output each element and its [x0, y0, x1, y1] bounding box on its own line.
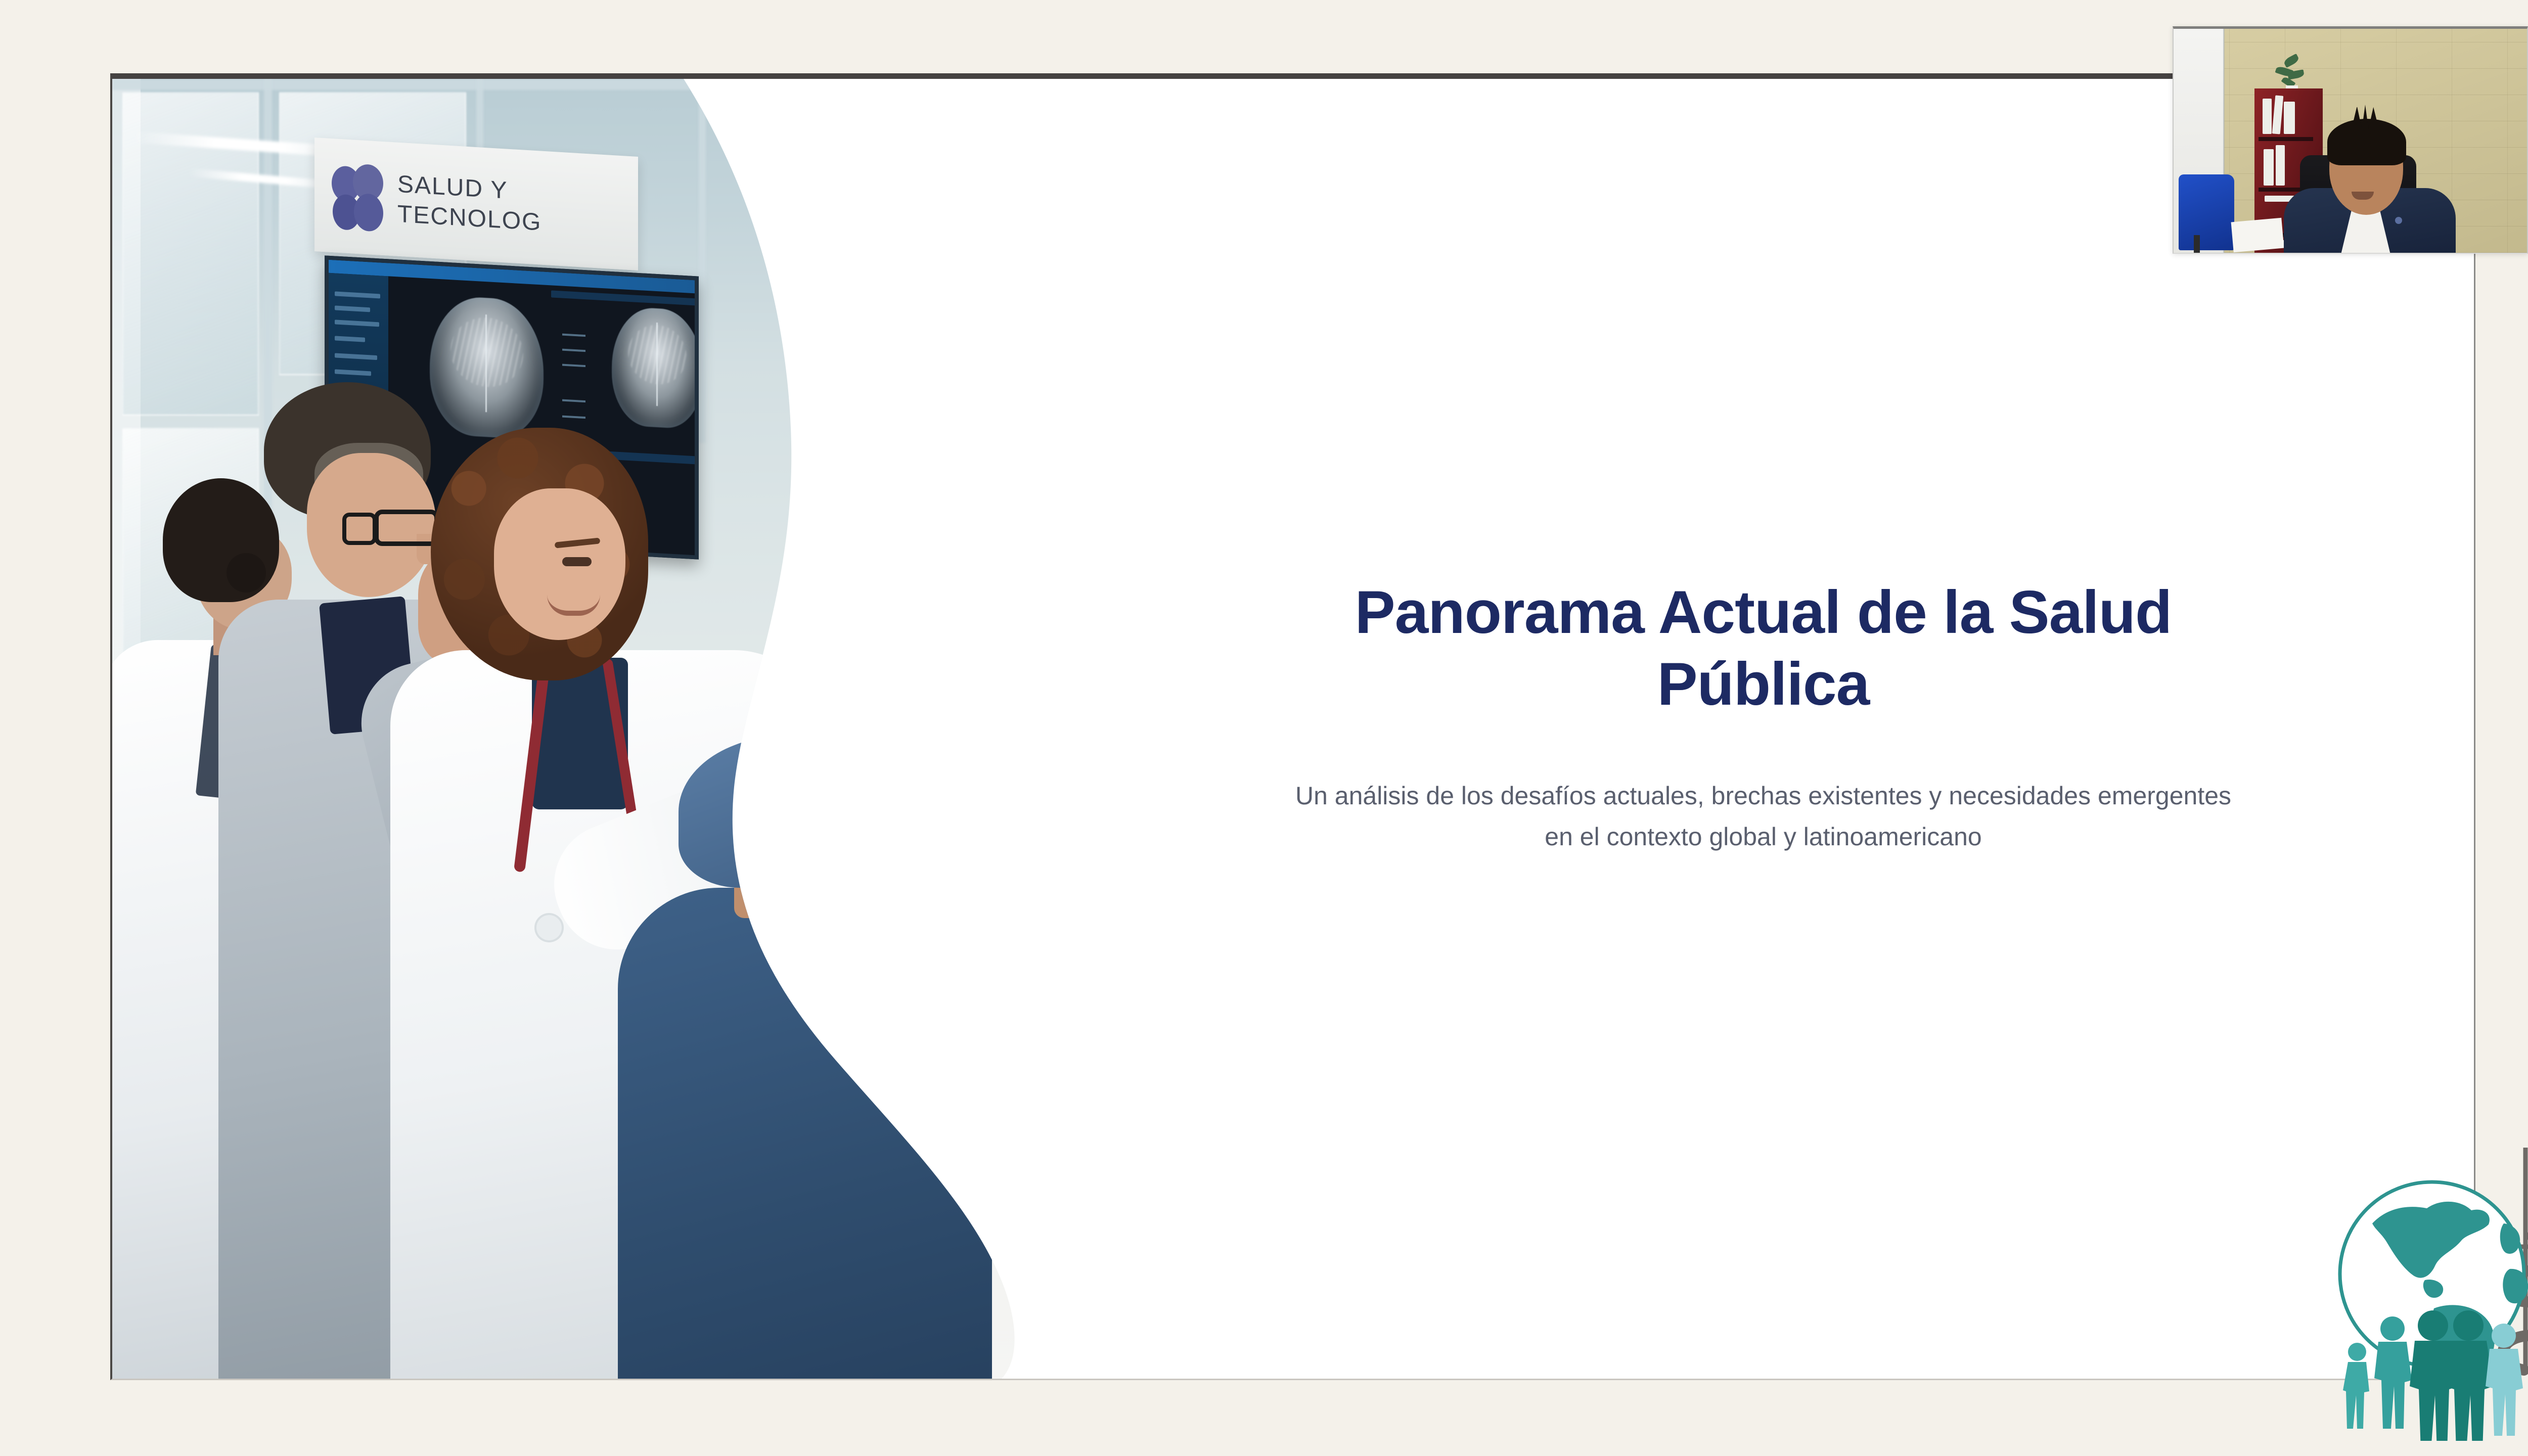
window-mullion-3	[699, 79, 706, 443]
slide-content: Panorama Actual de la Salud Pública Un a…	[1053, 79, 2474, 1379]
photo-person-foreground-nurse	[648, 736, 962, 1379]
slide-title-line-1: Panorama Actual de la Salud	[1355, 578, 2172, 646]
slide-subtitle-line-1: Un análisis de los desafíos actuales, br…	[1295, 782, 2231, 810]
webcam-chair	[2179, 174, 2234, 250]
organization-logo	[2326, 1148, 2528, 1441]
clinic-sign-text: SALUD Y TECNOLOG	[397, 170, 541, 238]
clinic-sign: SALUD Y TECNOLOG	[314, 138, 638, 270]
webcam-lapel-pin-icon	[2395, 217, 2402, 224]
slide-subtitle: Un análisis de los desafíos actuales, br…	[1195, 776, 2332, 857]
slide-photo: SALUD Y TECNOLOG	[112, 79, 1053, 1379]
presentation-slide: SALUD Y TECNOLOG	[110, 73, 2475, 1380]
webcam-chair-leg	[2194, 235, 2200, 254]
slide-subtitle-line-2: en el contexto global y latinoamericano	[1545, 823, 1981, 851]
globe-east-landmass	[2500, 1223, 2520, 1254]
clinic-sign-logo-icon	[332, 162, 384, 232]
screen-share-stage: SALUD Y TECNOLOG	[0, 0, 2528, 1456]
brain-scan-2	[612, 306, 699, 430]
webcam-participant-tile[interactable]	[2173, 26, 2528, 254]
slide-title: Panorama Actual de la Salud Pública	[1250, 577, 2277, 720]
slide-title-line-2: Pública	[1657, 650, 1870, 718]
window-frame-top	[112, 79, 1053, 90]
webcam-papers	[2231, 218, 2284, 252]
